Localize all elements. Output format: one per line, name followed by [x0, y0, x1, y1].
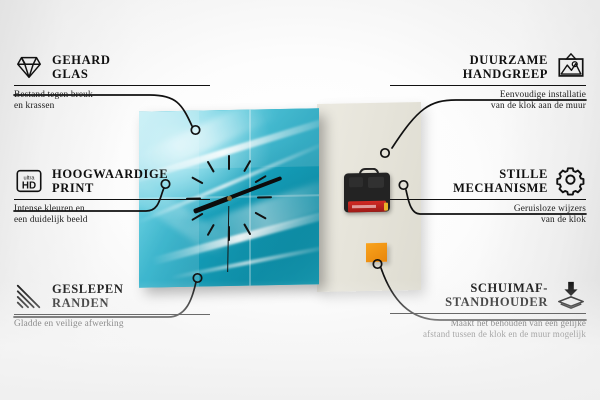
feature-title-line1: SCHUIMAF-	[445, 281, 548, 295]
feature-geslepen-randen: GESLEPEN RANDEN Gladde en veilige afwerk…	[14, 281, 210, 330]
divider	[390, 199, 586, 200]
feature-title-line2: HANDGREEP	[463, 67, 548, 81]
feature-schuimaf-standhouder: SCHUIMAF- STANDHOUDER Maakt het behouden…	[390, 280, 586, 341]
feature-title-line1: GEHARD	[52, 53, 110, 67]
feature-title-line2: GLAS	[52, 67, 110, 81]
feature-desc-line1: Gladde en veilige afwerking	[14, 319, 210, 330]
feature-desc-line2: afstand tussen de klok en de muur mogeli…	[338, 329, 586, 340]
feature-title-line1: DUURZAME	[463, 53, 548, 67]
feature-hoogwaardige-print: ultra HD HOOGWAARDIGE PRINT Intense kleu…	[14, 166, 210, 227]
ultra-hd-icon: ultra HD	[14, 166, 44, 196]
divider	[14, 199, 210, 200]
feature-title-line1: GESLEPEN	[52, 282, 124, 296]
feature-desc-line1: Maakt het behouden van een gelijke	[390, 318, 586, 329]
mechanism-body	[344, 173, 390, 213]
diamond-icon	[14, 52, 44, 82]
feature-duurzame-handgreep: DUURZAME HANDGREEP Eenvoudige installati…	[390, 52, 586, 113]
divider	[14, 85, 210, 86]
feature-gehard-glas: GEHARD GLAS Bestand tegen breuk en krass…	[14, 52, 210, 113]
beveled-edge-icon	[14, 281, 44, 311]
feature-stille-mechanisme: STILLE MECHANISME Geruisloze wijzers van…	[390, 166, 586, 227]
feature-title-line2: RANDEN	[52, 296, 124, 310]
feature-title-line2: PRINT	[52, 181, 168, 195]
clock-center-cap	[227, 195, 232, 200]
feature-title-line1: STILLE	[453, 167, 548, 181]
feature-desc-line2: een duidelijk beeld	[14, 215, 210, 226]
feature-desc-line2: van de klok aan de muur	[390, 101, 586, 112]
divider	[14, 314, 210, 315]
feature-desc-line1: Bestand tegen breuk	[14, 90, 210, 101]
divider	[390, 313, 586, 314]
svg-text:HD: HD	[22, 181, 36, 192]
divider	[390, 85, 586, 86]
press-pad-icon	[556, 280, 586, 310]
feature-desc-line2: van de klok	[390, 215, 586, 226]
feature-title-line2: STANDHOUDER	[445, 295, 548, 309]
feature-desc-line1: Eenvoudige installatie	[390, 90, 586, 101]
foam-spacer-pad	[366, 243, 387, 262]
feature-desc-line1: Geruisloze wijzers	[390, 204, 586, 215]
feature-title-line1: HOOGWAARDIGE	[52, 167, 168, 181]
gear-icon	[556, 166, 586, 196]
feature-title-line2: MECHANISME	[453, 181, 548, 195]
clock-mechanism	[344, 168, 390, 213]
framed-picture-icon	[556, 52, 586, 82]
product-infographic: GEHARD GLAS Bestand tegen breuk en krass…	[0, 0, 600, 400]
feature-desc-line1: Intense kleuren en	[14, 204, 210, 215]
feature-desc-line2: en krassen	[14, 101, 210, 112]
battery	[348, 201, 386, 213]
